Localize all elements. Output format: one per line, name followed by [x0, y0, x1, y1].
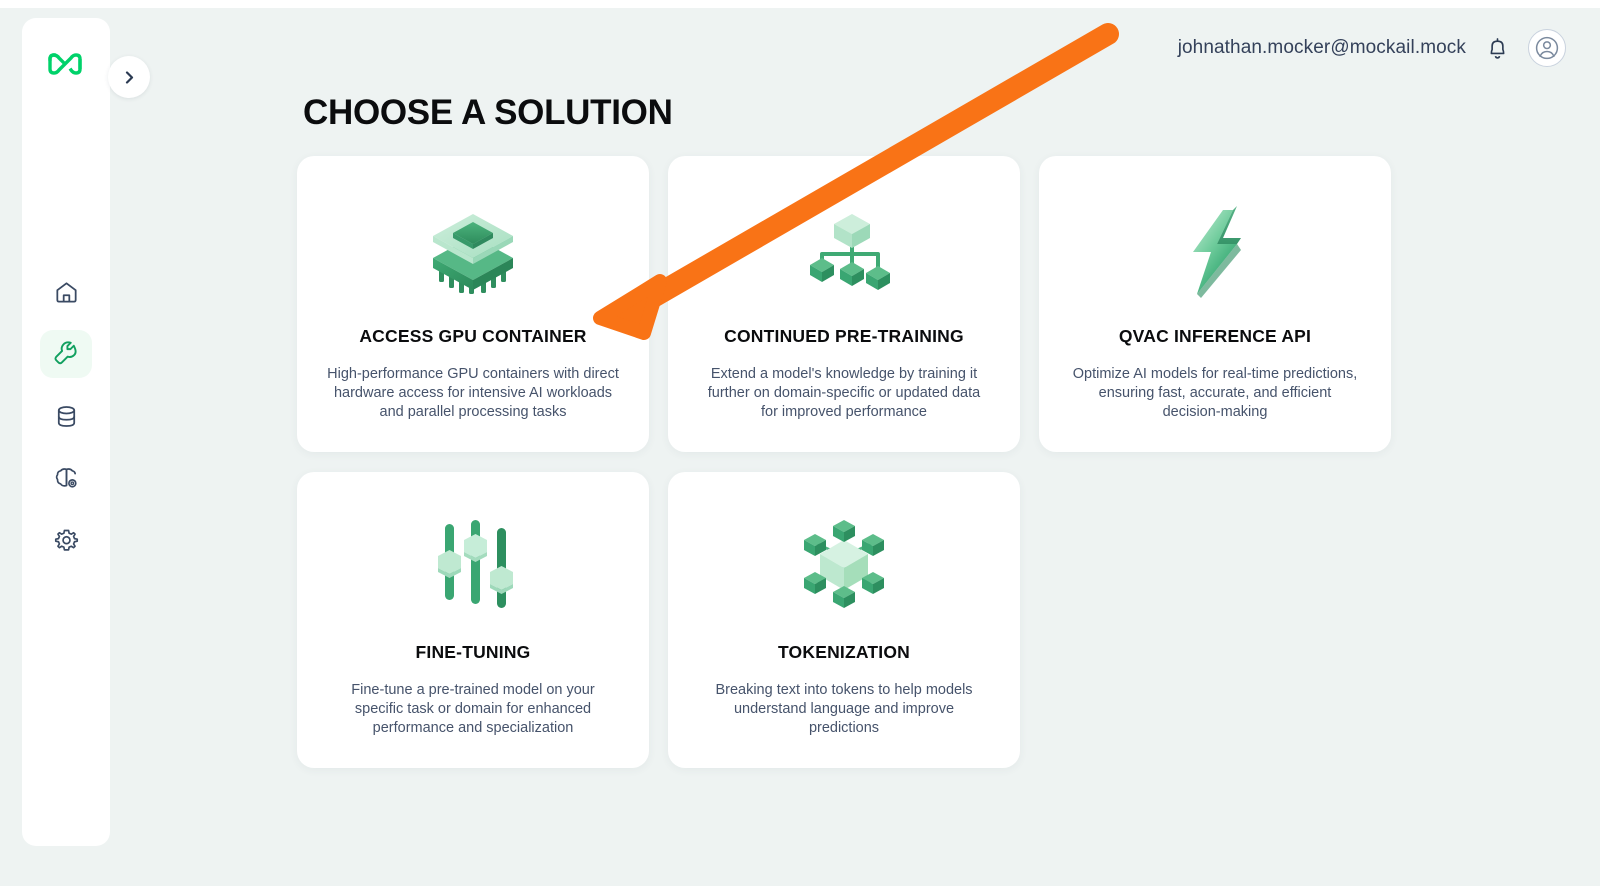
chevron-right-icon	[123, 70, 136, 85]
wrench-icon	[53, 341, 79, 367]
card-title: FINE-TUNING	[416, 642, 531, 663]
brain-gear-icon	[54, 466, 79, 491]
gpu-chip-icon	[425, 200, 521, 304]
main-content: CHOOSE A SOLUTION	[110, 0, 1600, 886]
solution-card-access-gpu-container[interactable]: ACCESS GPU CONTAINER High-performance GP…	[297, 156, 649, 452]
network-cubes-icon	[795, 516, 893, 612]
sidebar-toggle-button[interactable]	[108, 56, 150, 98]
home-icon	[54, 280, 79, 305]
card-description: Extend a model's knowledge by training i…	[698, 365, 990, 422]
card-title: ACCESS GPU CONTAINER	[359, 326, 586, 347]
card-title: CONTINUED PRE-TRAINING	[724, 326, 964, 347]
card-description: High-performance GPU containers with dir…	[327, 365, 619, 422]
solution-card-tokenization[interactable]: TOKENIZATION Breaking text into tokens t…	[668, 472, 1020, 768]
sidebar-item-models[interactable]	[40, 454, 92, 502]
app-logo[interactable]	[22, 42, 110, 86]
lightning-bolt-icon	[1171, 200, 1259, 304]
solutions-grid: ACCESS GPU CONTAINER High-performance GP…	[297, 156, 1397, 768]
hierarchy-cubes-icon	[796, 200, 892, 304]
sidebar-nav	[22, 268, 110, 564]
sliders-icon	[427, 516, 519, 612]
card-title: TOKENIZATION	[778, 642, 910, 663]
card-description: Optimize AI models for real-time predict…	[1069, 365, 1361, 422]
sidebar	[22, 18, 110, 846]
card-description: Breaking text into tokens to help models…	[698, 681, 990, 738]
infinity-logo-icon	[47, 53, 85, 75]
solution-card-qvac-inference-api[interactable]: QVAC INFERENCE API Optimize AI models fo…	[1039, 156, 1391, 452]
solution-card-continued-pre-training[interactable]: CONTINUED PRE-TRAINING Extend a model's …	[668, 156, 1020, 452]
gear-icon	[54, 528, 79, 553]
card-description: Fine-tune a pre-trained model on your sp…	[327, 681, 619, 738]
card-title: QVAC INFERENCE API	[1119, 326, 1311, 347]
sidebar-item-settings[interactable]	[40, 516, 92, 564]
page-title: CHOOSE A SOLUTION	[303, 93, 673, 133]
solution-card-fine-tuning[interactable]: FINE-TUNING Fine-tune a pre-trained mode…	[297, 472, 649, 768]
database-icon	[54, 404, 79, 429]
sidebar-item-home[interactable]	[40, 268, 92, 316]
sidebar-item-data[interactable]	[40, 392, 92, 440]
sidebar-item-solutions[interactable]	[40, 330, 92, 378]
